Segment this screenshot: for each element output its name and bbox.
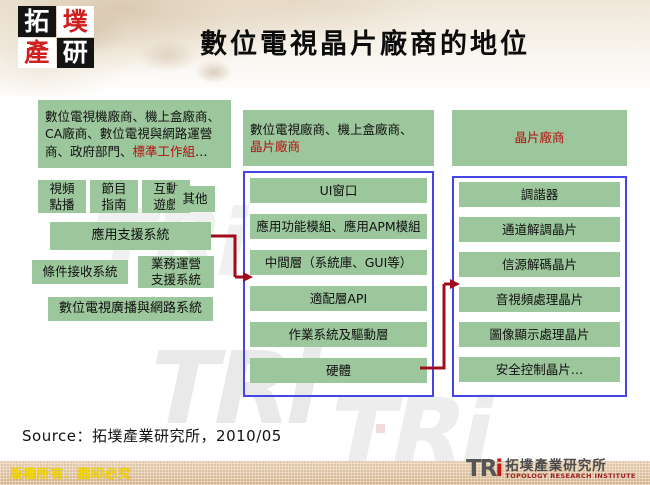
left-row-boss: 業務運營 支援系統 (138, 256, 214, 288)
middle-header-highlight: 晶片廠商 (250, 139, 300, 154)
middle-column-header: 數位電視廠商、機上盒廠商、 晶片廠商 (243, 110, 434, 166)
slide-canvas: TRi TRi TRi 拓 墣 產 研 數位電視晶片廠商的地位 數位電視機廠商、… (0, 0, 650, 485)
footer-logo-mark: TRi (466, 458, 501, 481)
logo-char-1: 拓 (18, 6, 56, 37)
left-column-header: 數位電視機廠商、機上盒廠商、CA廠商、數位電視與網路運營商、政府部門、標準工作組… (38, 100, 231, 168)
left-small-box-4: 其他 (175, 186, 215, 212)
right-column-header: 晶片廠商 (452, 110, 627, 166)
footer-logo-names: 拓墣產業研究所 TOPOLOGY RESEARCH INSTITUTE (505, 459, 635, 480)
watermark-dot (376, 424, 385, 433)
right-item-5: 圖像顯示處理晶片 (459, 322, 620, 347)
tri-logo: 拓 墣 產 研 (18, 6, 94, 68)
arrow-middle-to-right (418, 276, 462, 372)
logo-char-2: 墣 (57, 6, 95, 37)
middle-item-6: 硬體 (250, 358, 427, 383)
footer-logo-en: TOPOLOGY RESEARCH INSTITUTE (505, 473, 635, 480)
left-row-app-support: 應用支援系統 (50, 222, 211, 250)
left-header-highlight: 標準工作組 (133, 144, 196, 159)
right-item-1: 調諧器 (459, 182, 620, 207)
middle-item-5: 作業系統及驅動層 (250, 322, 427, 347)
middle-item-1: UI窗口 (250, 178, 427, 203)
right-header-highlight: 晶片廠商 (514, 130, 564, 146)
left-row-broadcast-network: 數位電視廣播與網路系統 (48, 297, 213, 321)
left-small-box-2: 節目 指南 (90, 180, 138, 213)
right-item-4: 音視頻處理晶片 (459, 287, 620, 312)
page-title: 數位電視晶片廠商的地位 (150, 22, 580, 61)
arrow-left-to-middle (209, 232, 253, 288)
right-item-3: 信源解碼晶片 (459, 252, 620, 277)
footer-logo-cn: 拓墣產業研究所 (505, 459, 635, 473)
middle-item-2: 應用功能模組、應用APM模組 (250, 214, 427, 239)
footer-copyright: 版權所有．翻印必究 (10, 463, 132, 482)
left-row-ca-system: 條件接收系統 (32, 260, 128, 284)
right-item-2: 通道解調晶片 (459, 217, 620, 242)
logo-char-3: 產 (18, 38, 56, 69)
middle-header-text: 數位電視廠商、機上盒廠商、 (250, 122, 413, 137)
middle-item-3: 中間層（系統庫、GUI等） (250, 250, 427, 275)
middle-item-4: 適配層API (250, 286, 427, 311)
right-item-6: 安全控制晶片… (459, 357, 620, 382)
left-header-tail: … (195, 144, 208, 159)
logo-char-4: 研 (57, 38, 95, 69)
left-small-box-1: 視頻 點播 (38, 180, 86, 213)
source-caption: Source：拓墣產業研究所，2010/05 (22, 425, 282, 446)
footer-logo: TRi 拓墣產業研究所 TOPOLOGY RESEARCH INSTITUTE (466, 458, 636, 481)
